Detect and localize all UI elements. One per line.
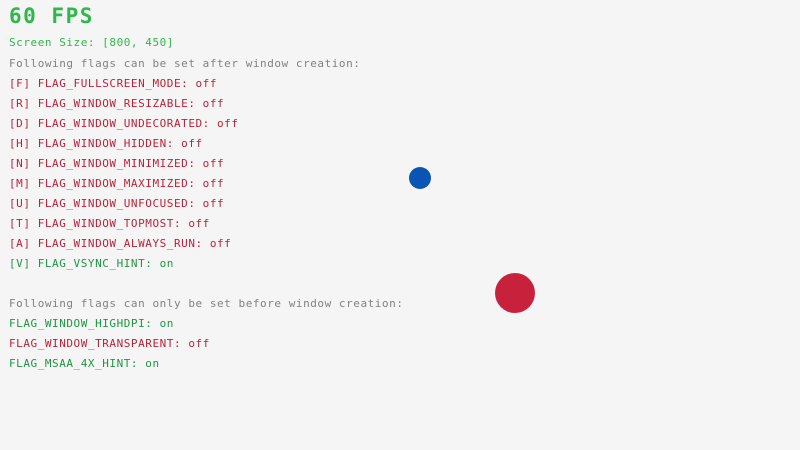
- flag-row-window-highdpi: FLAG_WINDOW_HIGHDPI: on: [9, 318, 174, 330]
- flag-row-msaa-4x-hint: FLAG_MSAA_4X_HINT: on: [9, 358, 160, 370]
- flag-row-window-hidden[interactable]: [H] FLAG_WINDOW_HIDDEN: off: [9, 138, 203, 150]
- flag-row-vsync-hint[interactable]: [V] FLAG_VSYNC_HINT: on: [9, 258, 174, 270]
- flag-row-window-minimized[interactable]: [N] FLAG_WINDOW_MINIMIZED: off: [9, 158, 224, 170]
- section-heading-after-creation: Following flags can be set after window …: [9, 58, 360, 70]
- flag-row-window-undecorated[interactable]: [D] FLAG_WINDOW_UNDECORATED: off: [9, 118, 239, 130]
- app-window: 60 FPS Screen Size: [800, 450] Following…: [0, 0, 800, 450]
- flag-row-fullscreen-mode[interactable]: [F] FLAG_FULLSCREEN_MODE: off: [9, 78, 217, 90]
- flag-row-window-topmost[interactable]: [T] FLAG_WINDOW_TOPMOST: off: [9, 218, 210, 230]
- flag-row-window-transparent: FLAG_WINDOW_TRANSPARENT: off: [9, 338, 210, 350]
- flag-row-window-maximized[interactable]: [M] FLAG_WINDOW_MAXIMIZED: off: [9, 178, 224, 190]
- flag-row-window-resizable[interactable]: [R] FLAG_WINDOW_RESIZABLE: off: [9, 98, 224, 110]
- flag-row-window-always-run[interactable]: [A] FLAG_WINDOW_ALWAYS_RUN: off: [9, 238, 231, 250]
- ball-blue: [409, 167, 431, 189]
- section-heading-before-creation: Following flags can only be set before w…: [9, 298, 404, 310]
- screen-size-label: Screen Size: [800, 450]: [9, 37, 174, 49]
- ball-red: [495, 273, 535, 313]
- fps-counter: 60 FPS: [9, 6, 94, 27]
- flag-row-window-unfocused[interactable]: [U] FLAG_WINDOW_UNFOCUSED: off: [9, 198, 224, 210]
